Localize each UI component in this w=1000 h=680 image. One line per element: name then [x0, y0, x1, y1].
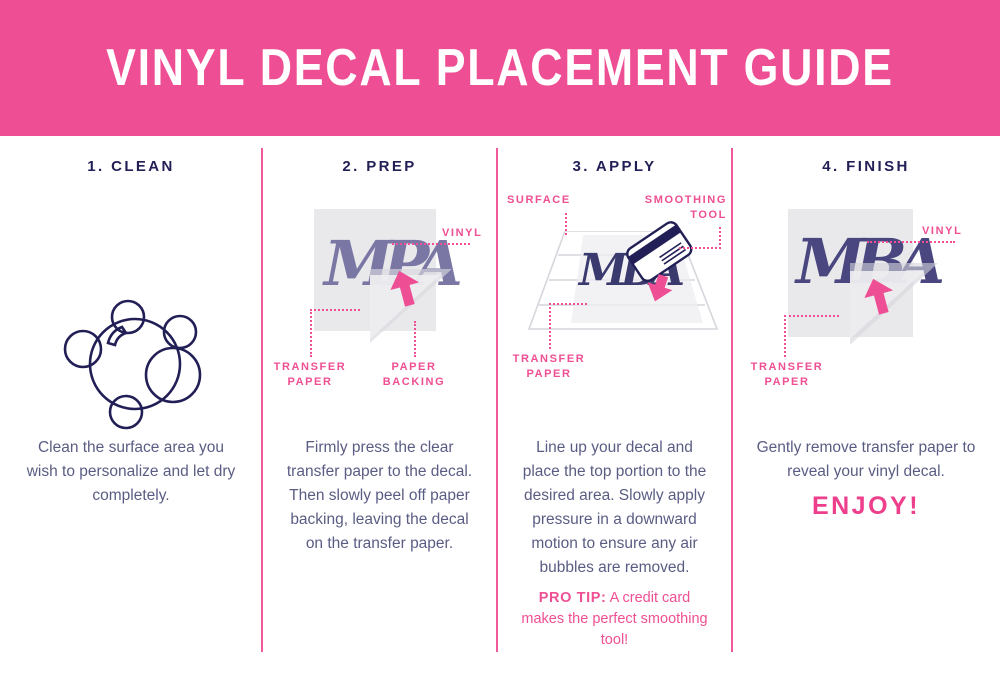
- leader-transfer-h-prep: [310, 309, 360, 311]
- leader-transfer-v-finish: [784, 315, 786, 357]
- leader-transfer-v-prep: [310, 309, 312, 357]
- label-transfer-paper-prep: TRANSFER PAPER: [254, 360, 366, 390]
- step-title-apply: 3. APPLY: [497, 158, 732, 175]
- label-paper-backing-prep: PAPER BACKING: [358, 360, 470, 390]
- illustration-clean: [0, 191, 262, 446]
- page-title: VINYL DECAL PLACEMENT GUIDE: [106, 42, 894, 94]
- step-body-clean: Clean the surface area you wish to perso…: [0, 436, 262, 508]
- label-vinyl-finish: VINYL: [922, 224, 992, 239]
- step-body-finish: Gently remove transfer paper to reveal y…: [732, 436, 1000, 484]
- pro-tip-label: PRO TIP:: [539, 590, 607, 606]
- steps-container: document.querySelector('[data-name="colu…: [0, 136, 1000, 680]
- leader-vinyl-finish: [867, 241, 955, 243]
- step-body-apply: Line up your decal and place the top por…: [497, 436, 732, 580]
- pro-tip-apply: PRO TIP: A credit card makes the perfect…: [497, 588, 732, 651]
- label-transfer-paper-apply: TRANSFER PAPER: [493, 352, 605, 382]
- step-title-prep: 2. PREP: [262, 158, 497, 175]
- leader-tool-v-apply: [719, 227, 721, 249]
- infographic-page: VINYL DECAL PLACEMENT GUIDE document.que…: [0, 0, 1000, 680]
- step-title-finish: 4. FINISH: [732, 158, 1000, 175]
- header-banner: VINYL DECAL PLACEMENT GUIDE: [0, 0, 1000, 136]
- step-body-prep: Firmly press the clear transfer paper to…: [262, 436, 497, 556]
- leader-transfer-h-finish: [784, 315, 839, 317]
- leader-vinyl-prep: [392, 243, 470, 245]
- peel-arrow-prep: [386, 271, 432, 317]
- step-column-apply: 3. APPLY MBA: [497, 136, 732, 680]
- step-column-prep: 2. PREP MPA VINYL: [262, 136, 497, 680]
- leader-backing-v-prep: [414, 321, 416, 357]
- illustration-apply: MBA SURFACE: [497, 191, 732, 446]
- illustration-prep: MPA VINYL TRANSFER PAPER: [262, 191, 497, 446]
- peel-arrow-finish: [860, 279, 906, 325]
- step-title-clean: 1. CLEAN: [0, 158, 262, 175]
- step-column-clean: 1. CLEAN Clean the surface area you wish…: [0, 136, 262, 680]
- illustration-finish: MBA VINYL TRANSFER PAPER: [732, 191, 1000, 446]
- label-surface-apply: SURFACE: [507, 193, 607, 208]
- leader-transfer-h-apply: [549, 303, 587, 305]
- leader-transfer-v-apply: [549, 303, 551, 349]
- label-smoothing-tool-apply: SMOOTHING TOOL: [615, 193, 727, 223]
- leader-surface-apply: [565, 213, 567, 235]
- downward-arrow-apply: [643, 273, 677, 307]
- enjoy-text: ENJOY!: [732, 492, 1000, 521]
- label-transfer-paper-finish: TRANSFER PAPER: [728, 360, 846, 390]
- step-column-finish: 4. FINISH MBA VINYL TR: [732, 136, 1000, 680]
- leader-tool-h-apply: [679, 247, 721, 249]
- soap-bubbles-icon: [0, 191, 262, 446]
